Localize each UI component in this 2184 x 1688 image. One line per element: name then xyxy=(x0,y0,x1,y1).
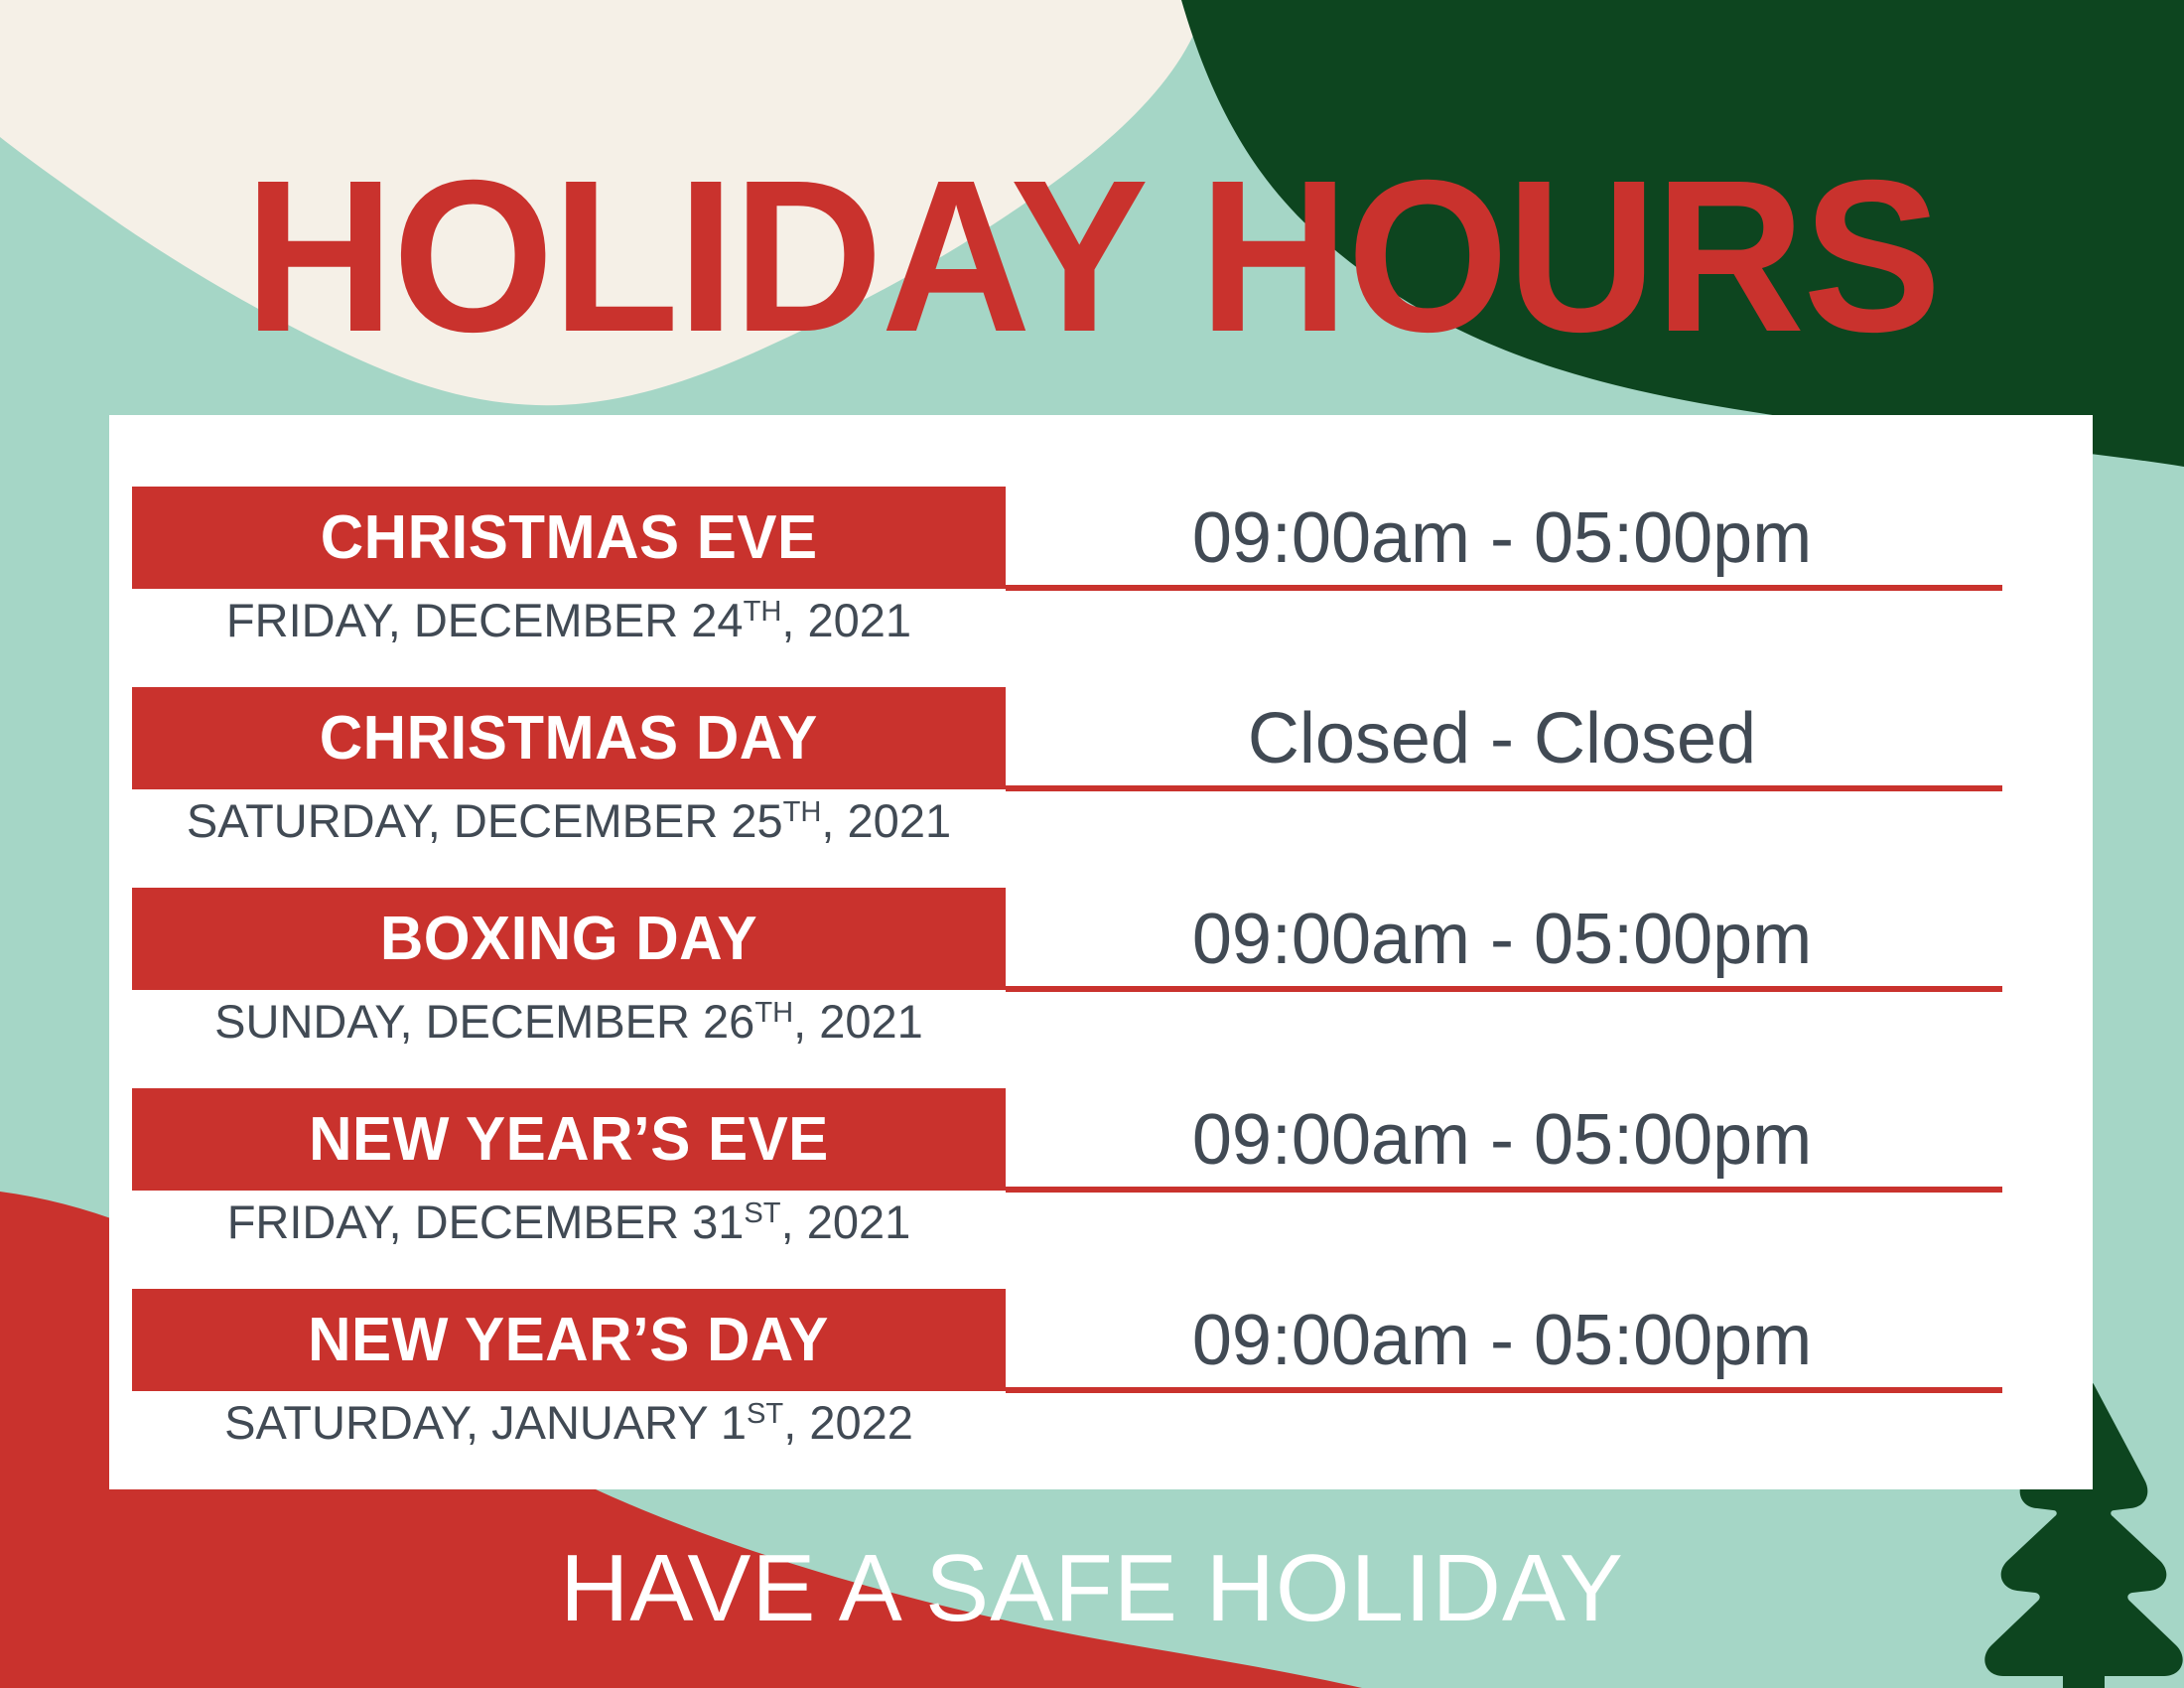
row-divider-rule xyxy=(1006,585,2002,591)
holiday-hours-poster: HOLIDAY HOURS CHRISTMAS EVE FRIDAY, DECE… xyxy=(0,0,2184,1688)
holiday-name-chip: CHRISTMAS EVE xyxy=(132,487,1006,589)
holiday-name-chip: BOXING DAY xyxy=(132,888,1006,990)
holiday-name: NEW YEAR’S DAY xyxy=(309,1310,830,1371)
schedule-row: CHRISTMAS EVE FRIDAY, DECEMBER 24TH, 202… xyxy=(109,487,2093,690)
holiday-name-chip: CHRISTMAS DAY xyxy=(132,687,1006,789)
holiday-date-main: SATURDAY, JANUARY 1 xyxy=(224,1396,747,1449)
holiday-date-tail: , 2021 xyxy=(821,794,951,847)
holiday-date-main: SATURDAY, DECEMBER 25 xyxy=(187,794,783,847)
schedule-row: NEW YEAR’S DAY SATURDAY, JANUARY 1ST, 20… xyxy=(109,1289,2093,1492)
holiday-date: SATURDAY, JANUARY 1ST, 2022 xyxy=(132,1396,1006,1450)
holiday-date-tail: , 2021 xyxy=(793,995,923,1048)
holiday-date-ordinal: ST xyxy=(744,1197,780,1229)
holiday-date-main: FRIDAY, DECEMBER 24 xyxy=(226,594,744,646)
holiday-hours: 09:00am - 05:00pm xyxy=(1006,890,1998,989)
schedule-row: BOXING DAY SUNDAY, DECEMBER 26TH, 2021 0… xyxy=(109,888,2093,1091)
holiday-date-tail: , 2022 xyxy=(783,1396,913,1449)
row-divider-rule xyxy=(1006,986,2002,992)
holiday-hours: 09:00am - 05:00pm xyxy=(1006,1291,1998,1390)
row-divider-rule xyxy=(1006,1187,2002,1193)
schedule-card: CHRISTMAS EVE FRIDAY, DECEMBER 24TH, 202… xyxy=(109,415,2093,1489)
holiday-date: FRIDAY, DECEMBER 24TH, 2021 xyxy=(132,594,1006,647)
holiday-date-ordinal: TH xyxy=(754,997,793,1029)
holiday-date: FRIDAY, DECEMBER 31ST, 2021 xyxy=(132,1196,1006,1249)
holiday-name-chip: NEW YEAR’S EVE xyxy=(132,1088,1006,1191)
footer-message: HAVE A SAFE HOLIDAY xyxy=(0,1541,2184,1636)
holiday-hours: 09:00am - 05:00pm xyxy=(1006,489,1998,588)
holiday-date-ordinal: TH xyxy=(744,596,782,628)
schedule-rows: CHRISTMAS EVE FRIDAY, DECEMBER 24TH, 202… xyxy=(109,415,2093,1489)
holiday-name-chip: NEW YEAR’S DAY xyxy=(132,1289,1006,1391)
holiday-date: SATURDAY, DECEMBER 25TH, 2021 xyxy=(132,794,1006,848)
holiday-date-main: SUNDAY, DECEMBER 26 xyxy=(214,995,754,1048)
holiday-hours: 09:00am - 05:00pm xyxy=(1006,1090,1998,1190)
holiday-date-ordinal: ST xyxy=(747,1398,783,1430)
row-divider-rule xyxy=(1006,785,2002,791)
schedule-row: NEW YEAR’S EVE FRIDAY, DECEMBER 31ST, 20… xyxy=(109,1088,2093,1292)
holiday-date-tail: , 2021 xyxy=(781,594,911,646)
holiday-name: BOXING DAY xyxy=(380,909,757,970)
holiday-date-tail: , 2021 xyxy=(781,1196,911,1248)
holiday-date-main: FRIDAY, DECEMBER 31 xyxy=(227,1196,745,1248)
holiday-date: SUNDAY, DECEMBER 26TH, 2021 xyxy=(132,995,1006,1049)
page-title: HOLIDAY HOURS xyxy=(44,149,2140,365)
holiday-date-ordinal: TH xyxy=(783,796,822,828)
holiday-name: NEW YEAR’S EVE xyxy=(309,1109,829,1171)
holiday-name: CHRISTMAS EVE xyxy=(321,507,818,569)
holiday-hours: Closed - Closed xyxy=(1006,689,1998,788)
row-divider-rule xyxy=(1006,1387,2002,1393)
schedule-row: CHRISTMAS DAY SATURDAY, DECEMBER 25TH, 2… xyxy=(109,687,2093,891)
holiday-name: CHRISTMAS DAY xyxy=(320,708,818,770)
